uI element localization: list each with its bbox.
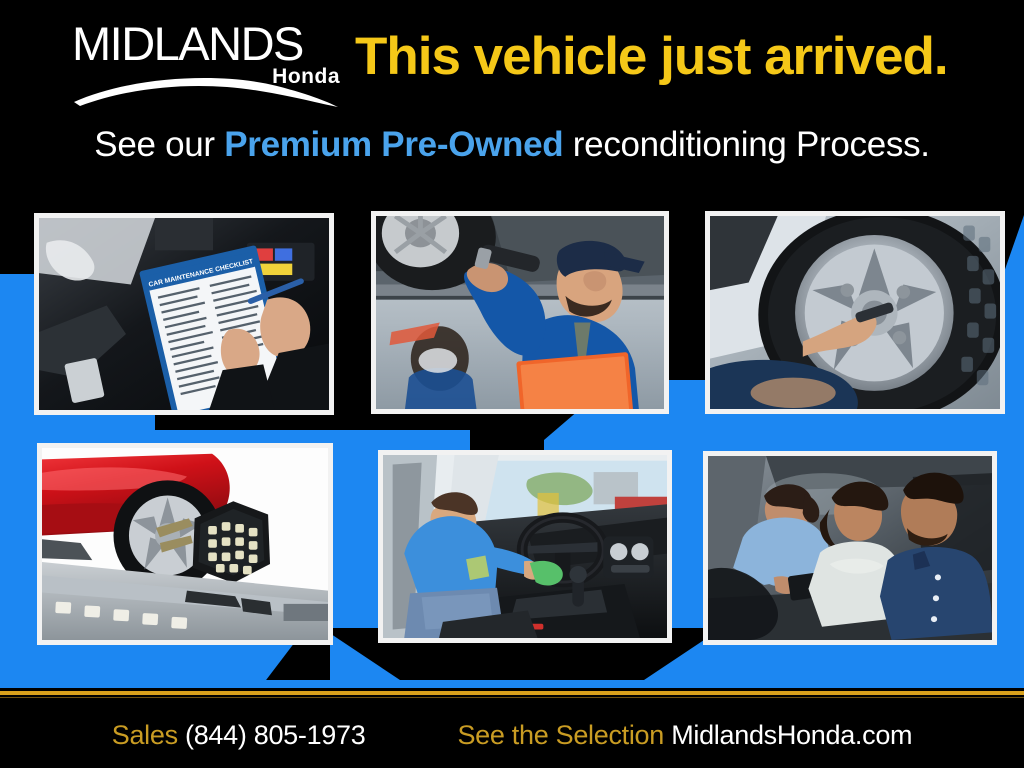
blue-band-bottom <box>0 680 1024 688</box>
gallery-photo-3[interactable] <box>705 211 1005 414</box>
gallery-photo-3-image <box>710 216 1000 409</box>
footer-phone-number[interactable]: (844) 805-1973 <box>185 720 365 750</box>
subheadline-part-1: See our <box>94 125 224 164</box>
gallery-photo-4[interactable] <box>37 443 333 645</box>
gallery-photo-5[interactable] <box>378 450 672 643</box>
footer-selection-label: See the Selection <box>457 720 664 750</box>
subheadline-part-2: reconditioning Process. <box>563 125 929 164</box>
subheadline-highlight: Premium Pre-Owned <box>224 125 563 164</box>
gallery-photo-5-image <box>383 455 667 638</box>
gallery-photo-1[interactable]: CAR MAINTENANCE CHECKLIST <box>34 213 334 415</box>
gallery-photo-4-image <box>42 448 328 640</box>
gold-divider-rule <box>0 691 1024 695</box>
brand-logo[interactable]: MIDLANDS Honda <box>72 22 342 102</box>
gallery-photo-2[interactable] <box>371 211 669 414</box>
footer-website-link[interactable]: MidlandsHonda.com <box>671 720 912 750</box>
gallery-photo-6[interactable] <box>703 451 997 645</box>
headline: This vehicle just arrived. <box>355 26 948 87</box>
ad-banner: MIDLANDS Honda This vehicle just arrived… <box>0 0 1024 768</box>
footer-contact-row: Sales (844) 805-1973 See the Selection M… <box>0 720 1024 751</box>
gallery-photo-1-image: CAR MAINTENANCE CHECKLIST <box>39 218 329 410</box>
header: MIDLANDS Honda This vehicle just arrived… <box>0 0 1024 195</box>
footer: Sales (844) 805-1973 See the Selection M… <box>0 700 1024 768</box>
subheadline: See our Premium Pre-Owned reconditioning… <box>0 125 1024 165</box>
brand-swoosh-icon <box>72 72 340 108</box>
brand-logo-wordmark: MIDLANDS <box>72 22 342 66</box>
footer-selection-group: See the Selection MidlandsHonda.com <box>457 720 912 751</box>
gallery-photo-2-image <box>376 216 664 409</box>
footer-sales-group: Sales (844) 805-1973 <box>112 720 366 751</box>
gallery-photo-6-image <box>708 456 992 640</box>
gold-divider-rule-secondary <box>0 697 1024 698</box>
footer-sales-label: Sales <box>112 720 178 750</box>
